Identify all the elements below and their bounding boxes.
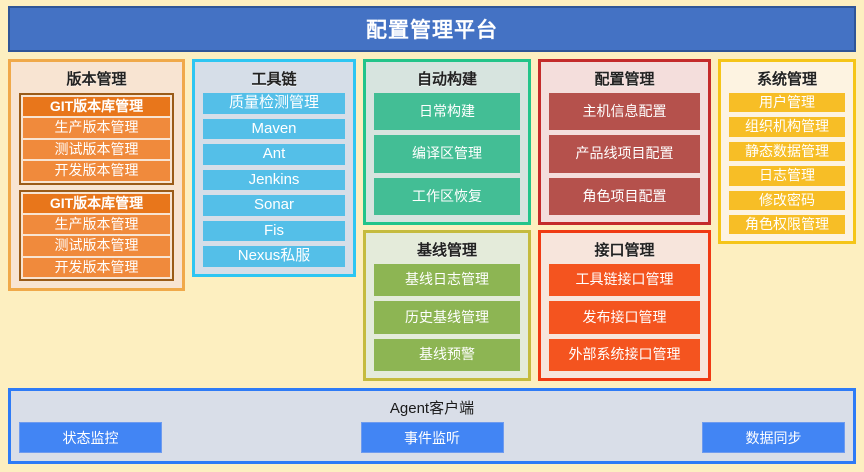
panel-auto-build: 自动构建 日常构建 编译区管理 工作区恢复 (363, 59, 531, 225)
column-toolchain: 工具链 质量检测管理 Maven Ant Jenkins Sonar Fis N… (192, 59, 356, 381)
item-external-system-interface-management[interactable]: 外部系统接口管理 (549, 339, 700, 371)
item-organization-management[interactable]: 组织机构管理 (729, 117, 845, 136)
item-release-interface-management[interactable]: 发布接口管理 (549, 301, 700, 333)
item-sonar[interactable]: Sonar (203, 195, 345, 216)
page-title: 配置管理平台 (8, 6, 856, 52)
item-baseline-log-management[interactable]: 基线日志管理 (374, 264, 520, 296)
item-log-management[interactable]: 日志管理 (729, 166, 845, 185)
panel-baseline-management: 基线管理 基线日志管理 历史基线管理 基线预警 (363, 230, 531, 381)
item-ant[interactable]: Ant (203, 144, 345, 165)
module-columns: 版本管理 GIT版本库管理 生产版本管理 测试版本管理 开发版本管理 GIT版本… (8, 59, 856, 381)
panel-title-version-management: 版本管理 (19, 66, 174, 93)
system-management-items: 用户管理 组织机构管理 静态数据管理 日志管理 修改密码 角色权限管理 (729, 93, 845, 234)
version-management-groups: GIT版本库管理 生产版本管理 测试版本管理 开发版本管理 GIT版本库管理 生… (19, 93, 174, 281)
agent-client-buttons: 状态监控 事件监听 数据同步 (19, 422, 845, 453)
item-production-version-management-2[interactable]: 生产版本管理 (23, 215, 170, 234)
agent-client-bar: Agent客户端 状态监控 事件监听 数据同步 (8, 388, 856, 464)
panel-title-baseline-management: 基线管理 (374, 237, 520, 264)
data-sync-button[interactable]: 数据同步 (702, 422, 845, 453)
item-compile-area-management[interactable]: 编译区管理 (374, 135, 520, 172)
item-historical-baseline-management[interactable]: 历史基线管理 (374, 301, 520, 333)
item-git-repo-management-1[interactable]: GIT版本库管理 (23, 97, 170, 116)
item-production-version-management-1[interactable]: 生产版本管理 (23, 118, 170, 137)
column-system-management: 系统管理 用户管理 组织机构管理 静态数据管理 日志管理 修改密码 角色权限管理 (718, 59, 856, 381)
item-role-permission-management[interactable]: 角色权限管理 (729, 215, 845, 234)
panel-version-management: 版本管理 GIT版本库管理 生产版本管理 测试版本管理 开发版本管理 GIT版本… (8, 59, 185, 291)
panel-system-management: 系统管理 用户管理 组织机构管理 静态数据管理 日志管理 修改密码 角色权限管理 (718, 59, 856, 244)
item-workspace-recovery[interactable]: 工作区恢复 (374, 178, 520, 215)
item-baseline-alert[interactable]: 基线预警 (374, 339, 520, 371)
column-version-management: 版本管理 GIT版本库管理 生产版本管理 测试版本管理 开发版本管理 GIT版本… (8, 59, 185, 381)
column-build-and-baseline: 自动构建 日常构建 编译区管理 工作区恢复 基线管理 基线日志管理 历史基线管理… (363, 59, 531, 381)
interface-management-items: 工具链接口管理 发布接口管理 外部系统接口管理 (549, 264, 700, 371)
item-maven[interactable]: Maven (203, 119, 345, 140)
panel-title-config-management: 配置管理 (549, 66, 700, 93)
item-nexus-private-repo[interactable]: Nexus私服 (203, 246, 345, 267)
item-fis[interactable]: Fis (203, 221, 345, 242)
item-host-info-config[interactable]: 主机信息配置 (549, 93, 700, 130)
item-dev-version-management-2[interactable]: 开发版本管理 (23, 258, 170, 277)
item-git-repo-management-2[interactable]: GIT版本库管理 (23, 194, 170, 213)
version-group-1: GIT版本库管理 生产版本管理 测试版本管理 开发版本管理 (19, 93, 174, 185)
item-daily-build[interactable]: 日常构建 (374, 93, 520, 130)
panel-interface-management: 接口管理 工具链接口管理 发布接口管理 外部系统接口管理 (538, 230, 711, 381)
panel-title-interface-management: 接口管理 (549, 237, 700, 264)
baseline-management-items: 基线日志管理 历史基线管理 基线预警 (374, 264, 520, 371)
item-toolchain-interface-management[interactable]: 工具链接口管理 (549, 264, 700, 296)
toolchain-items: 质量检测管理 Maven Ant Jenkins Sonar Fis Nexus… (203, 93, 345, 267)
item-product-line-project-config[interactable]: 产品线项目配置 (549, 135, 700, 172)
config-management-items: 主机信息配置 产品线项目配置 角色项目配置 (549, 93, 700, 215)
auto-build-items: 日常构建 编译区管理 工作区恢复 (374, 93, 520, 215)
panel-title-toolchain: 工具链 (203, 66, 345, 93)
panel-title-system-management: 系统管理 (729, 66, 845, 93)
status-monitor-button[interactable]: 状态监控 (19, 422, 162, 453)
item-static-data-management[interactable]: 静态数据管理 (729, 142, 845, 161)
agent-client-title: Agent客户端 (19, 395, 845, 422)
item-dev-version-management-1[interactable]: 开发版本管理 (23, 161, 170, 180)
panel-title-auto-build: 自动构建 (374, 66, 520, 93)
item-test-version-management-1[interactable]: 测试版本管理 (23, 140, 170, 159)
version-group-2: GIT版本库管理 生产版本管理 测试版本管理 开发版本管理 (19, 190, 174, 282)
item-quality-inspection-management[interactable]: 质量检测管理 (203, 93, 345, 114)
item-role-project-config[interactable]: 角色项目配置 (549, 178, 700, 215)
configuration-management-platform-diagram: 配置管理平台 版本管理 GIT版本库管理 生产版本管理 测试版本管理 开发版本管… (0, 0, 864, 472)
item-test-version-management-2[interactable]: 测试版本管理 (23, 236, 170, 255)
panel-toolchain: 工具链 质量检测管理 Maven Ant Jenkins Sonar Fis N… (192, 59, 356, 277)
item-jenkins[interactable]: Jenkins (203, 170, 345, 191)
panel-config-management: 配置管理 主机信息配置 产品线项目配置 角色项目配置 (538, 59, 711, 225)
item-change-password[interactable]: 修改密码 (729, 191, 845, 210)
column-config-and-interface: 配置管理 主机信息配置 产品线项目配置 角色项目配置 接口管理 工具链接口管理 … (538, 59, 711, 381)
event-listener-button[interactable]: 事件监听 (361, 422, 504, 453)
item-user-management[interactable]: 用户管理 (729, 93, 845, 112)
